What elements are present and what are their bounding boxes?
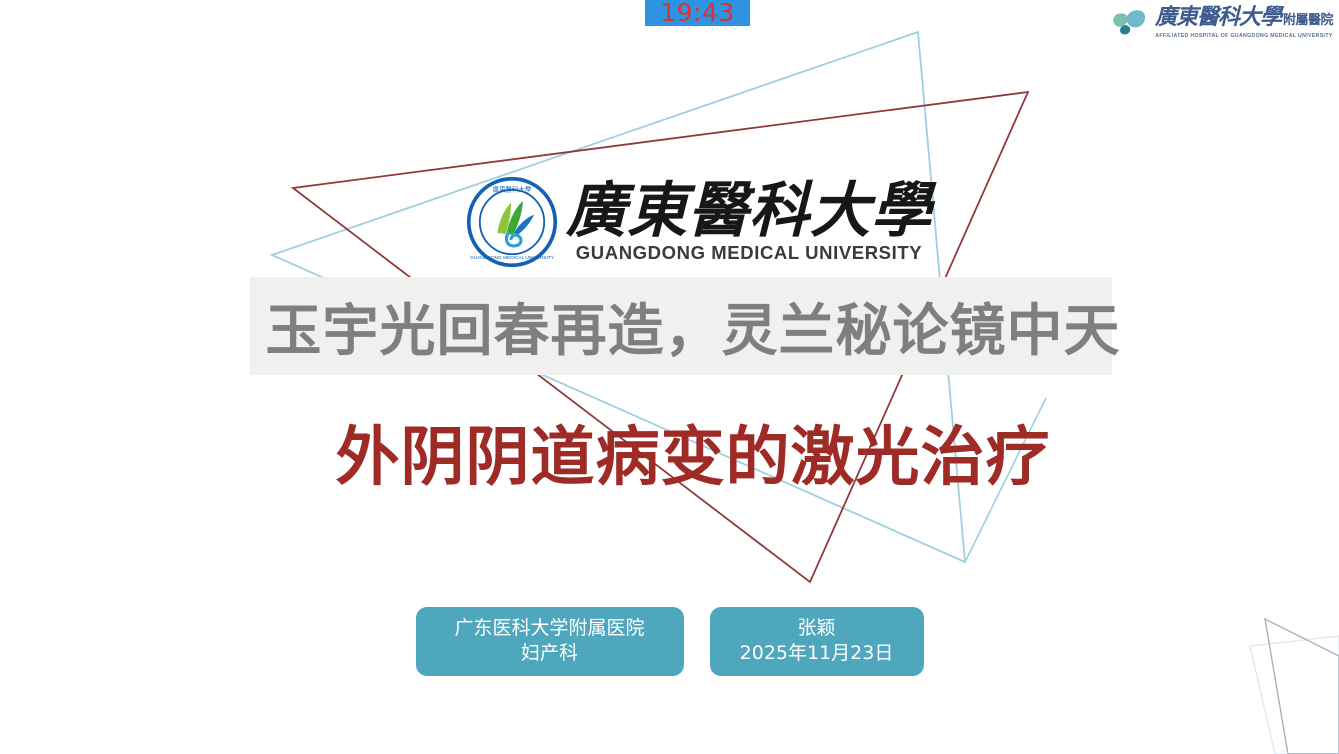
hospital-name-main: 廣東醫科大學	[1155, 5, 1281, 29]
presentation-slide: 19:43 廣東醫科大學 附屬醫院 AFFILIATED HOSPITAL OF…	[0, 0, 1339, 754]
credits-row: 广东医科大学附属医院 妇产科 张颖 2025年11月23日	[0, 607, 1339, 676]
credit-author-date: 2025年11月23日	[728, 641, 906, 666]
university-name-en: GUANGDONG MEDICAL UNIVERSITY	[566, 242, 932, 264]
credit-organization-line2: 妇产科	[434, 641, 666, 666]
hospital-name-en: AFFILIATED HOSPITAL OF GUANGDONG MEDICAL…	[1155, 32, 1333, 40]
credit-author-name: 张颖	[728, 616, 906, 641]
hospital-name-sub: 附屬醫院	[1283, 10, 1333, 32]
university-brand: 廣東醫科大學 GUANGDONG MEDICAL UNIVERSITY 廣東醫科…	[466, 176, 932, 268]
credit-organization-chip: 广东医科大学附属医院 妇产科	[416, 607, 684, 676]
svg-text:GUANGDONG MEDICAL UNIVERSITY: GUANGDONG MEDICAL UNIVERSITY	[470, 255, 555, 261]
slide-subtitle: 外阴阴道病变的激光治疗	[228, 420, 1158, 496]
hospital-logo: 廣東醫科大學 附屬醫院 AFFILIATED HOSPITAL OF GUANG…	[1111, 2, 1333, 42]
credit-author-chip: 张颖 2025年11月23日	[710, 607, 924, 676]
recording-timestamp: 19:43	[645, 0, 750, 26]
credit-organization-line1: 广东医科大学附属医院	[434, 616, 666, 641]
university-emblem-icon: 廣東醫科大學 GUANGDONG MEDICAL UNIVERSITY	[466, 176, 558, 268]
university-name-cn: 廣東醫科大學	[566, 180, 932, 242]
university-brand-text: 廣東醫科大學 GUANGDONG MEDICAL UNIVERSITY	[566, 180, 932, 264]
hospital-logo-names: 廣東醫科大學 附屬醫院 AFFILIATED HOSPITAL OF GUANG…	[1155, 5, 1333, 40]
hospital-name-row: 廣東醫科大學 附屬醫院	[1155, 5, 1333, 32]
slide-headline: 玉宇光回春再造，灵兰秘论镜中天	[228, 300, 1158, 364]
hospital-butterfly-mark	[1111, 5, 1151, 39]
svg-text:廣東醫科大學: 廣東醫科大學	[493, 185, 532, 194]
